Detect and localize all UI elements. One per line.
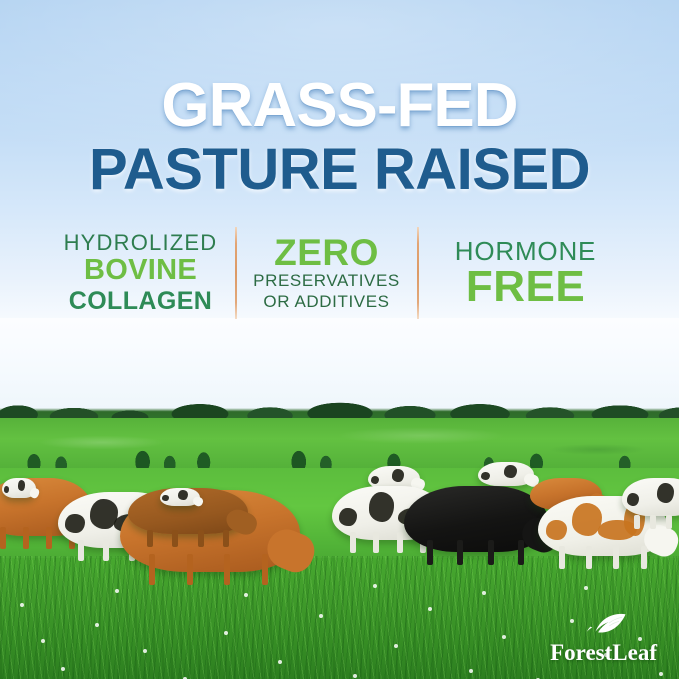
cow-holstein-small-mid2 <box>478 462 534 486</box>
cow-leg <box>149 554 155 585</box>
hide-patch <box>627 493 639 506</box>
hide-patch <box>339 508 357 526</box>
feature-line: OR ADDITIVES <box>243 292 411 312</box>
flower-speck <box>115 589 119 593</box>
cow-leg <box>457 540 463 565</box>
flower-speck <box>394 644 398 648</box>
cow-leg <box>0 527 6 549</box>
cow-leg <box>586 546 592 569</box>
column-divider-1 <box>235 227 237 319</box>
flower-speck <box>482 591 486 595</box>
cow-leg <box>427 540 433 565</box>
brand-logo: ForestLeaf <box>550 613 657 665</box>
cow-leg <box>559 546 565 569</box>
cow-leg <box>613 546 619 569</box>
cow-leg <box>350 532 356 553</box>
feature-line: ZERO <box>243 234 411 271</box>
hide-patch <box>481 472 490 480</box>
cow-leg <box>641 546 647 569</box>
cow-leg <box>634 515 640 529</box>
cow-leg <box>666 515 672 529</box>
cow-leg <box>518 540 524 565</box>
flower-speck <box>319 614 323 618</box>
feature-column-hormone-free: HORMONEFREE <box>425 237 627 310</box>
cow-leg <box>23 527 29 549</box>
feature-line: PRESERVATIVES <box>243 271 411 291</box>
hide-patch <box>546 520 567 540</box>
flower-speck <box>95 623 99 627</box>
cow-leg <box>397 532 403 553</box>
flower-speck <box>244 593 248 597</box>
hide-patch <box>178 490 187 500</box>
hide-patch <box>162 495 168 501</box>
flower-speck <box>659 672 663 676</box>
flower-speck <box>469 669 473 673</box>
hide-patch <box>504 465 517 478</box>
feature-line: HORMONE <box>425 237 627 266</box>
cow-leg <box>373 532 379 553</box>
flower-speck <box>143 649 147 653</box>
feature-line: BOVINE <box>53 255 229 286</box>
flower-speck <box>20 603 24 607</box>
cow-leg <box>488 540 494 565</box>
feature-line: COLLAGEN <box>53 287 229 315</box>
feature-column-zero-preservatives: ZEROPRESERVATIVESOR ADDITIVES <box>243 234 411 312</box>
feature-claims-row: HYDROLIZEDBOVINECOLLAGENZEROPRESERVATIVE… <box>0 222 679 324</box>
cow-leg <box>650 515 656 529</box>
shrub-row <box>0 438 679 472</box>
hide-patch <box>65 514 85 533</box>
cow-leg <box>46 527 52 549</box>
cow-leg <box>78 540 84 561</box>
flower-speck <box>428 607 432 611</box>
feature-column-hydrolized-bovine-collagen: HYDROLIZEDBOVINECOLLAGEN <box>53 231 229 315</box>
flower-speck <box>353 674 357 678</box>
cow-leg <box>198 530 204 547</box>
hide-patch <box>392 469 404 482</box>
flower-speck <box>373 584 377 588</box>
cow-leg <box>223 530 229 547</box>
flower-speck <box>278 660 282 664</box>
cow-white-small-center <box>160 488 200 506</box>
column-divider-2 <box>417 227 419 319</box>
page-title: GRASS-FED <box>0 76 679 137</box>
cow-leg <box>224 554 230 585</box>
cow-leg <box>172 530 178 547</box>
cow-leg <box>262 554 268 585</box>
cow-white-small-far-left <box>2 478 36 498</box>
flower-speck <box>61 667 65 671</box>
flower-speck <box>41 639 45 643</box>
cow-leg <box>147 530 153 547</box>
cow-holstein-far-right <box>622 478 679 516</box>
flower-speck <box>584 586 588 590</box>
page-subtitle: PASTURE RAISED <box>0 141 679 199</box>
leaf-icon <box>550 613 657 640</box>
headline-block: GRASS-FED PASTURE RAISED <box>0 0 679 199</box>
cow-leg <box>103 540 109 561</box>
brand-name: ForestLeaf <box>550 640 657 665</box>
hide-patch <box>369 492 395 521</box>
flower-speck <box>502 635 506 639</box>
flower-speck <box>224 631 228 635</box>
cow-black-center-large <box>404 486 548 552</box>
feature-line: FREE <box>425 265 627 309</box>
promotional-product-banner: GRASS-FED PASTURE RAISED HYDROLIZEDBOVIN… <box>0 0 679 679</box>
cow-leg <box>187 554 193 585</box>
feature-line: HYDROLIZED <box>53 231 229 255</box>
